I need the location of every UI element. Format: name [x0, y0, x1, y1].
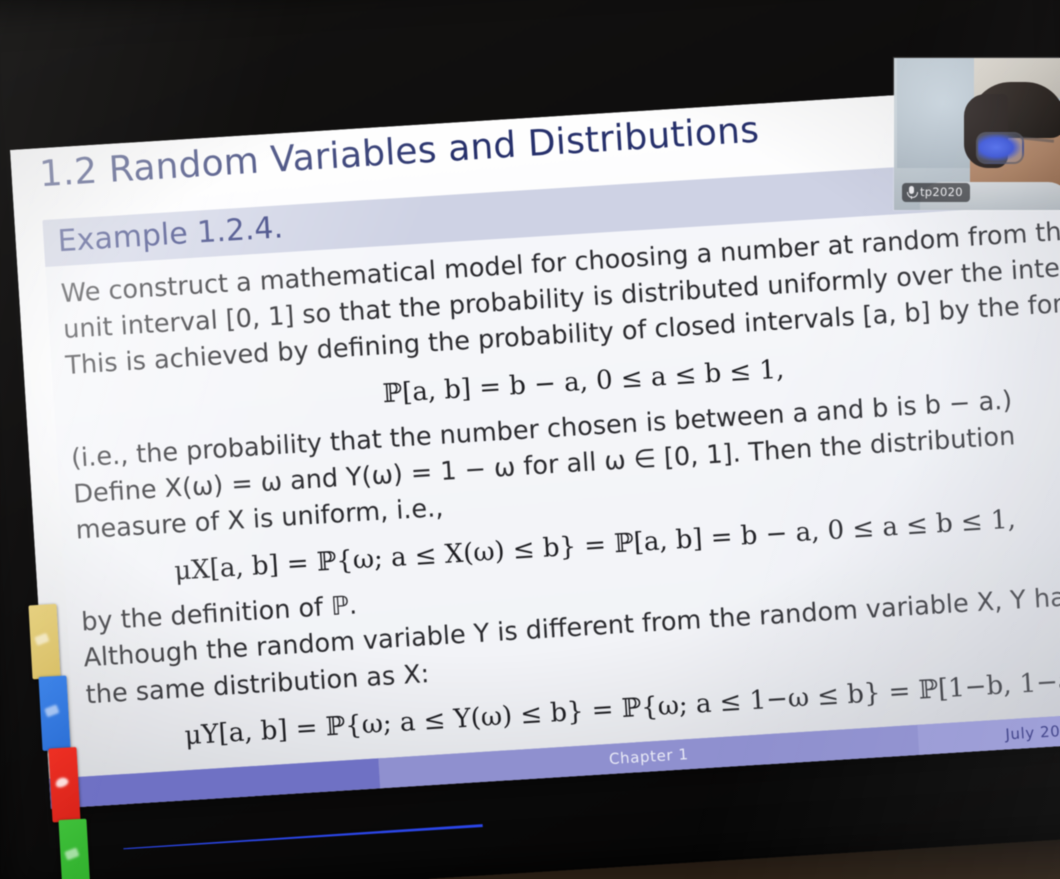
- participant-name-label: tp2020: [920, 185, 963, 199]
- bookmark-tab-blue[interactable]: [38, 675, 70, 750]
- participant-name-badge: tp2020: [902, 183, 970, 202]
- footer-date-label: July 2023: [1005, 721, 1060, 744]
- bookmark-tab-red[interactable]: [48, 747, 80, 822]
- example-block-body: We construct a mathematical model for ch…: [45, 201, 1060, 785]
- microphone-icon: [907, 186, 916, 199]
- example-block: Example 1.2.4. We construct a mathematic…: [42, 154, 1060, 785]
- bookmark-tab-yellow[interactable]: [28, 604, 60, 679]
- footer-chapter-label: Chapter 1: [608, 745, 689, 768]
- photo-of-monitor: 1.2 Random Variables and Distributions E…: [0, 0, 1060, 879]
- bookmark-tab-green[interactable]: [58, 819, 90, 879]
- webcam-self-view[interactable]: tp2020: [894, 58, 1060, 210]
